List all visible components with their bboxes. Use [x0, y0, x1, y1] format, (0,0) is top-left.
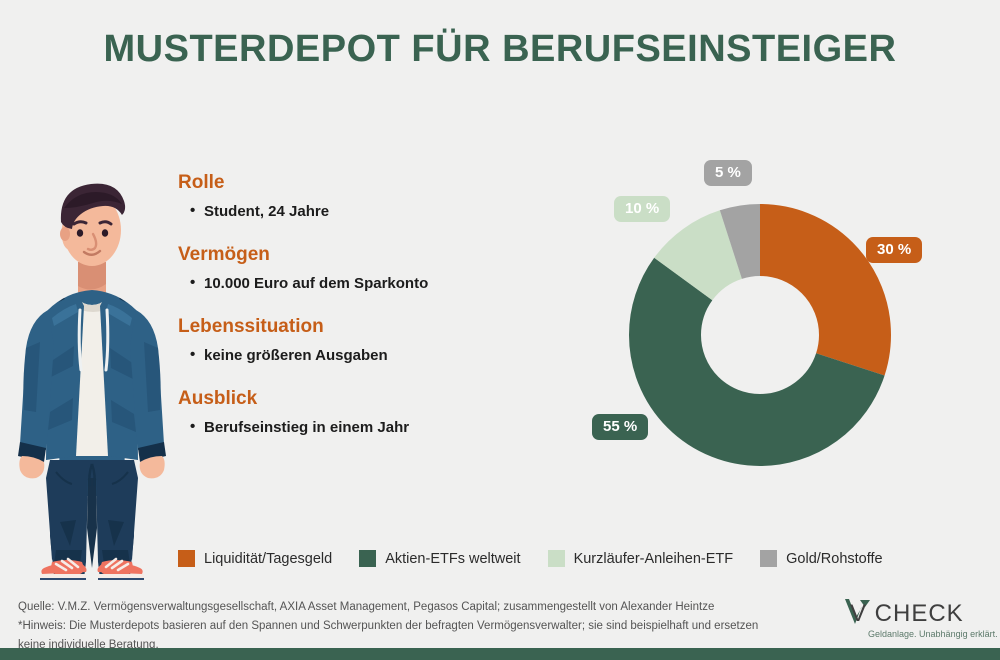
value-label-gold-rohstoffe: 5 %: [704, 160, 752, 186]
profile-list-item: Student, 24 Jahre: [204, 201, 558, 222]
portfolio-allocation-chart: 30 % 55 % 10 % 5 %: [600, 150, 940, 480]
young-man-illustration: [12, 112, 172, 580]
footer: Quelle: V.M.Z. Vermögensverwaltungsgesel…: [0, 584, 1000, 660]
footer-accent-bar: [0, 648, 1000, 660]
footer-line-1: Quelle: V.M.Z. Vermögensverwaltungsgesel…: [18, 598, 838, 617]
profile-item-list: 10.000 Euro auf dem Sparkonto: [178, 273, 558, 294]
profile-heading: Vermögen: [178, 244, 558, 266]
logo-wordmark: V CHECK: [850, 600, 964, 628]
legend-item-kurzlaeufer-anleihen: Kurzläufer-Anleihen-ETF: [548, 550, 734, 567]
profile-list-item: Berufseinstieg in einem Jahr: [204, 417, 558, 438]
chart-legend: Liquidität/Tagesgeld Aktien-ETFs weltwei…: [178, 550, 883, 567]
legend-label: Liquidität/Tagesgeld: [204, 551, 332, 567]
profile-heading: Rolle: [178, 172, 558, 194]
footer-line-2: *Hinweis: Die Musterdepots basieren auf …: [18, 617, 838, 636]
value-label-aktien-etfs: 55 %: [592, 414, 648, 440]
profile-heading: Lebenssituation: [178, 316, 558, 338]
legend-label: Kurzläufer-Anleihen-ETF: [574, 551, 734, 567]
profile-group-vermoegen: Vermögen 10.000 Euro auf dem Sparkonto: [178, 244, 558, 294]
legend-swatch-icon: [178, 550, 195, 567]
legend-swatch-icon: [359, 550, 376, 567]
footer-source-text: Quelle: V.M.Z. Vermögensverwaltungsgesel…: [18, 598, 838, 655]
value-label-kurzlaeufer-anleihen: 10 %: [614, 196, 670, 222]
value-label-liquiditaet: 30 %: [866, 237, 922, 263]
profile-list-item: keine größeren Ausgaben: [204, 345, 558, 366]
profile-group-rolle: Rolle Student, 24 Jahre: [178, 172, 558, 222]
donut-chart-svg: [620, 195, 900, 475]
legend-label: Aktien-ETFs weltweit: [385, 551, 520, 567]
page-title: MUSTERDEPOT FÜR BERUFSEINSTEIGER: [0, 28, 1000, 71]
profile-item-list: Student, 24 Jahre: [178, 201, 558, 222]
profile-group-lebenssituation: Lebenssituation keine größeren Ausgaben: [178, 316, 558, 366]
profile-item-list: Berufseinstieg in einem Jahr: [178, 417, 558, 438]
profile-info: Rolle Student, 24 Jahre Vermögen 10.000 …: [178, 172, 558, 438]
logo-tagline: Geldanlage. Unabhängig erklärt.: [868, 629, 998, 639]
vcheck-logo[interactable]: V CHECK Geldanlage. Unabhängig erklärt.: [840, 596, 990, 642]
profile-list-item: 10.000 Euro auf dem Sparkonto: [204, 273, 558, 294]
profile-group-ausblick: Ausblick Berufseinstieg in einem Jahr: [178, 388, 558, 438]
legend-item-gold-rohstoffe: Gold/Rohstoffe: [760, 550, 882, 567]
legend-item-aktien-etfs: Aktien-ETFs weltweit: [359, 550, 520, 567]
profile-heading: Ausblick: [178, 388, 558, 410]
legend-swatch-icon: [548, 550, 565, 567]
legend-label: Gold/Rohstoffe: [786, 551, 882, 567]
legend-item-liquiditaet: Liquidität/Tagesgeld: [178, 550, 332, 567]
profile-item-list: keine größeren Ausgaben: [178, 345, 558, 366]
legend-swatch-icon: [760, 550, 777, 567]
